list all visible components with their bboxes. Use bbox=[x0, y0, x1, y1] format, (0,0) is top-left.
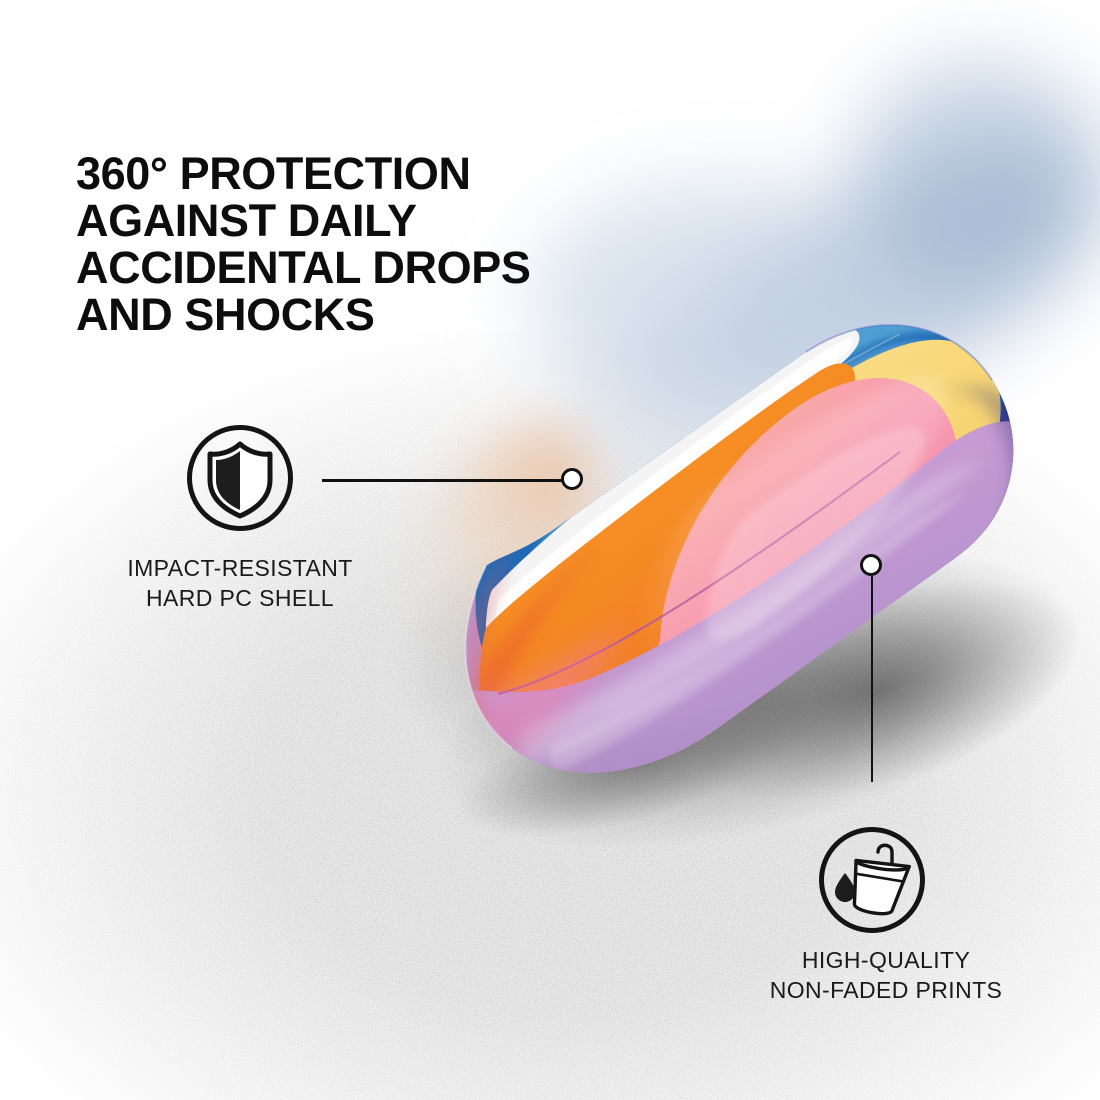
feature-label-prints-line-2: NON-FADED PRINTS bbox=[706, 975, 1066, 1005]
feature-label-impact-line-2: HARD PC SHELL bbox=[60, 583, 420, 613]
marketing-image: 360° PROTECTION AGAINST DAILY ACCIDENTAL… bbox=[0, 0, 1100, 1100]
feature-label-impact-line-1: IMPACT-RESISTANT bbox=[60, 553, 420, 583]
page-title: 360° PROTECTION AGAINST DAILY ACCIDENTAL… bbox=[76, 150, 696, 338]
copy-layer: 360° PROTECTION AGAINST DAILY ACCIDENTAL… bbox=[0, 0, 1100, 1100]
headline-line-3: ACCIDENTAL DROPS bbox=[76, 244, 696, 291]
headline-line-1: 360° PROTECTION bbox=[76, 150, 696, 197]
feature-label-prints-line-1: HIGH-QUALITY bbox=[706, 945, 1066, 975]
feature-label-non-faded-prints: HIGH-QUALITY NON-FADED PRINTS bbox=[706, 945, 1066, 1005]
headline-line-2: AGAINST DAILY bbox=[76, 197, 696, 244]
headline-line-4: AND SHOCKS bbox=[76, 291, 696, 338]
feature-label-impact-resistant: IMPACT-RESISTANT HARD PC SHELL bbox=[60, 553, 420, 613]
